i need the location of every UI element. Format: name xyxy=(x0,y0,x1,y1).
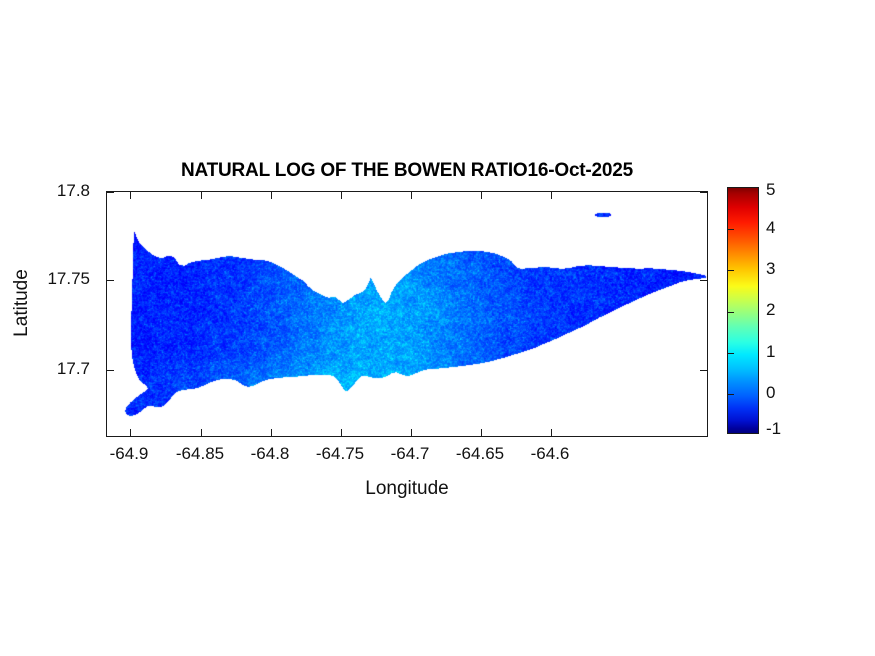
xtick-label: -64.7 xyxy=(391,444,430,464)
xtick-label: -64.75 xyxy=(316,444,364,464)
colorbar-tick-label: 1 xyxy=(766,342,775,362)
xtick-mark xyxy=(411,429,412,436)
y-axis-label: Latitude xyxy=(11,243,33,363)
xtick-mark xyxy=(341,429,342,436)
ytick-mark xyxy=(107,370,114,371)
colorbar-tick xyxy=(728,394,734,395)
xtick-mark-top xyxy=(411,192,412,199)
ytick-mark xyxy=(107,280,114,281)
colorbar-tick xyxy=(728,270,734,271)
colorbar-tick-label: -1 xyxy=(766,419,781,439)
colorbar[interactable] xyxy=(727,187,759,434)
colorbar-tick-label: 2 xyxy=(766,300,775,320)
ytick-label: 17.75 xyxy=(47,269,90,289)
ytick-mark-right xyxy=(700,192,707,193)
xtick-label: -64.9 xyxy=(110,444,149,464)
colorbar-tick-label: 4 xyxy=(766,218,775,238)
ytick-mark-right xyxy=(700,280,707,281)
colorbar-tick xyxy=(728,353,734,354)
colorbar-tick-label: 3 xyxy=(766,259,775,279)
x-axis-label: Longitude xyxy=(106,478,708,500)
xtick-mark-top xyxy=(481,192,482,199)
bowen-ratio-raster xyxy=(107,192,708,437)
xtick-label: -64.8 xyxy=(251,444,290,464)
xtick-mark xyxy=(271,429,272,436)
colorbar-tick-label: 5 xyxy=(766,180,775,200)
xtick-mark xyxy=(201,429,202,436)
colorbar-tick xyxy=(728,312,734,313)
xtick-label: -64.85 xyxy=(176,444,224,464)
colorbar-gradient xyxy=(727,187,759,434)
ytick-label: 17.7 xyxy=(57,359,90,379)
xtick-mark xyxy=(481,429,482,436)
xtick-mark-top xyxy=(271,192,272,199)
ytick-label: 17.8 xyxy=(57,181,90,201)
xtick-label: -64.65 xyxy=(456,444,504,464)
xtick-mark-top xyxy=(130,192,131,199)
xtick-mark xyxy=(551,429,552,436)
ytick-mark-right xyxy=(700,370,707,371)
colorbar-tick xyxy=(728,229,734,230)
map-axes[interactable] xyxy=(106,191,708,437)
page-title: NATURAL LOG OF THE BOWEN RATIO16-Oct-202… xyxy=(106,160,708,182)
xtick-mark-top xyxy=(201,192,202,199)
xtick-mark-top xyxy=(341,192,342,199)
xtick-mark-top xyxy=(551,192,552,199)
xtick-label: -64.6 xyxy=(531,444,570,464)
colorbar-tick-label: 0 xyxy=(766,383,775,403)
matlab-figure: NATURAL LOG OF THE BOWEN RATIO16-Oct-202… xyxy=(0,0,875,656)
xtick-mark xyxy=(130,429,131,436)
ytick-mark xyxy=(107,192,114,193)
